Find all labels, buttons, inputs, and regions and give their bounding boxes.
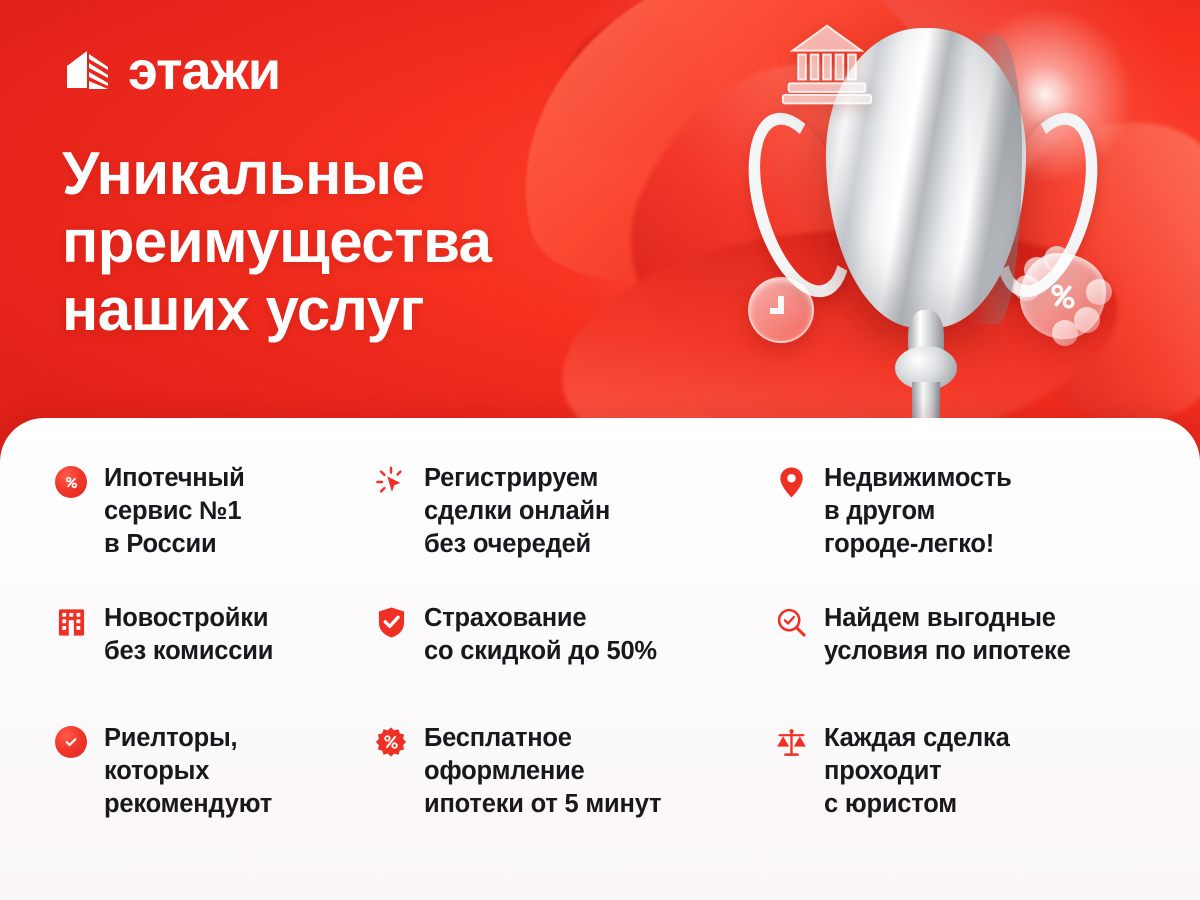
- scales-justice-icon: [774, 725, 808, 759]
- click-cursor-icon: [374, 465, 408, 499]
- feature-label: Новостройки без комиссии: [104, 602, 273, 668]
- feature-item: Недвижимость в другом городе-легко!: [774, 462, 1154, 602]
- headline-line-3: наших услуг: [62, 276, 492, 344]
- clock-badge-icon: [748, 277, 814, 343]
- feature-item: Найдем выгодные условия по ипотеке: [774, 602, 1154, 722]
- percent-scallop-badge-icon: [1020, 253, 1106, 339]
- headline-line-2: преимущества: [62, 208, 492, 276]
- apartment-building-icon: [54, 605, 88, 639]
- feature-label: Недвижимость в другом городе-легко!: [824, 462, 1012, 561]
- features-grid: Ипотечный сервис №1 в России: [54, 462, 1154, 821]
- feature-item: Регистрируем сделки онлайн без очередей: [374, 462, 774, 602]
- percent-circle-icon: [54, 465, 88, 499]
- bank-building-badge-icon: [778, 18, 876, 114]
- feature-item: Риелторы, которых рекомендуют: [54, 722, 374, 821]
- feature-item: Бесплатное оформление ипотеки от 5 минут: [374, 722, 774, 821]
- feature-item: Каждая сделка проходит с юристом: [774, 722, 1154, 821]
- check-circle-icon: [54, 725, 88, 759]
- shield-check-icon: [374, 605, 408, 639]
- feature-label: Бесплатное оформление ипотеки от 5 минут: [424, 722, 661, 821]
- feature-item: Новостройки без комиссии: [54, 602, 374, 722]
- feature-item: Страхование со скидкой до 50%: [374, 602, 774, 722]
- search-check-icon: [774, 605, 808, 639]
- brand-logo[interactable]: этажи: [62, 44, 280, 98]
- feature-label: Найдем выгодные условия по ипотеке: [824, 602, 1071, 668]
- percent-badge-icon: [374, 725, 408, 759]
- feature-label: Регистрируем сделки онлайн без очередей: [424, 462, 610, 561]
- brand-name: этажи: [128, 44, 280, 98]
- headline-line-1: Уникальные: [62, 140, 492, 208]
- page-title: Уникальные преимущества наших услуг: [62, 140, 492, 343]
- building-stairs-logo-icon: [62, 45, 114, 97]
- feature-label: Каждая сделка проходит с юристом: [824, 722, 1010, 821]
- feature-label: Страхование со скидкой до 50%: [424, 602, 657, 668]
- features-card: Ипотечный сервис №1 в России: [0, 418, 1200, 900]
- promo-banner: этажи Уникальные преимущества наших услу…: [0, 0, 1200, 900]
- feature-label: Ипотечный сервис №1 в России: [104, 462, 245, 561]
- feature-item: Ипотечный сервис №1 в России: [54, 462, 374, 602]
- feature-label: Риелторы, которых рекомендуют: [104, 722, 272, 821]
- map-pin-icon: [774, 465, 808, 499]
